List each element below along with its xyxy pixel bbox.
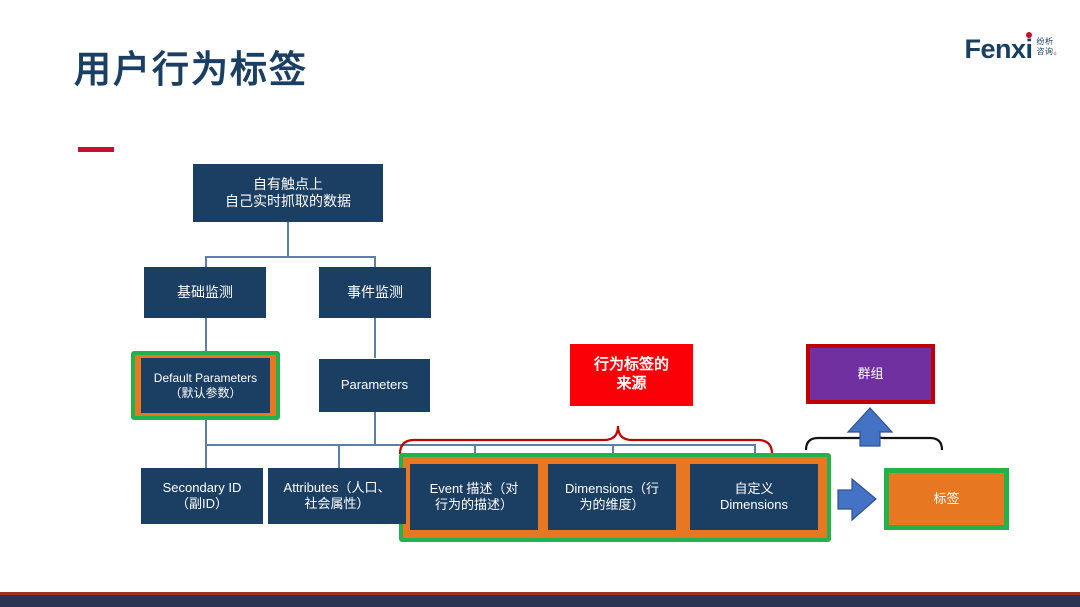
- footer-navy-bar: [0, 595, 1080, 607]
- node-basic-monitoring[interactable]: 基础监测: [144, 267, 266, 318]
- node-parameters[interactable]: Parameters: [319, 359, 430, 412]
- node-event-description[interactable]: Event 描述（对 行为的描述）: [410, 464, 538, 530]
- node-default-parameters[interactable]: Default Parameters （默认参数）: [141, 358, 270, 413]
- node-dimensions[interactable]: Dimensions（行 为的维度）: [548, 464, 676, 530]
- black-brace-icon: [806, 426, 942, 450]
- node-tag[interactable]: 标签: [884, 468, 1009, 530]
- node-group[interactable]: 群组: [806, 344, 935, 404]
- node-attributes[interactable]: Attributes（人口、 社会属性）: [268, 468, 406, 524]
- connector-default-down: [205, 418, 207, 444]
- node-root[interactable]: 自有触点上 自己实时抓取的数据: [193, 164, 383, 222]
- connector-level2-bus: [205, 256, 375, 258]
- connector-root-down: [287, 222, 289, 256]
- up-arrow-icon: [848, 408, 892, 446]
- right-arrow-icon: [838, 479, 876, 520]
- connector-leaf-bus: [205, 444, 755, 446]
- logo-chinese-name: 纷析 咨询。: [1037, 37, 1063, 57]
- node-event-monitoring[interactable]: 事件监测: [319, 267, 431, 318]
- connector-bus-to-secondary-id: [205, 444, 207, 468]
- brand-logo: Fenxi 纷析 咨询。: [964, 36, 1062, 63]
- red-brace-icon: [400, 426, 772, 454]
- connector-bus-to-attributes: [338, 444, 340, 468]
- logo-word-text: Fenxi: [964, 34, 1032, 64]
- node-secondary-id[interactable]: Secondary ID （副ID）: [141, 468, 263, 524]
- logo-red-dot-icon: [1026, 32, 1032, 38]
- slide-canvas: 用户行为标签 Fenxi 纷析 咨询。: [0, 0, 1080, 607]
- logo-wordmark: Fenxi: [964, 36, 1032, 63]
- logo-cn-line1: 纷析: [1037, 37, 1063, 47]
- logo-cn-line2: 咨询。: [1037, 47, 1063, 57]
- connector-to-event: [374, 256, 376, 267]
- connector-event-to-parameters: [374, 318, 376, 358]
- title-accent-rule: [78, 147, 114, 152]
- page-title: 用户行为标签: [74, 50, 308, 91]
- connector-parameters-down: [374, 412, 376, 444]
- callout-behavior-tag-source[interactable]: 行为标签的 来源: [570, 344, 693, 406]
- node-custom-dimensions[interactable]: 自定义 Dimensions: [690, 464, 818, 530]
- connector-to-basic: [205, 256, 207, 267]
